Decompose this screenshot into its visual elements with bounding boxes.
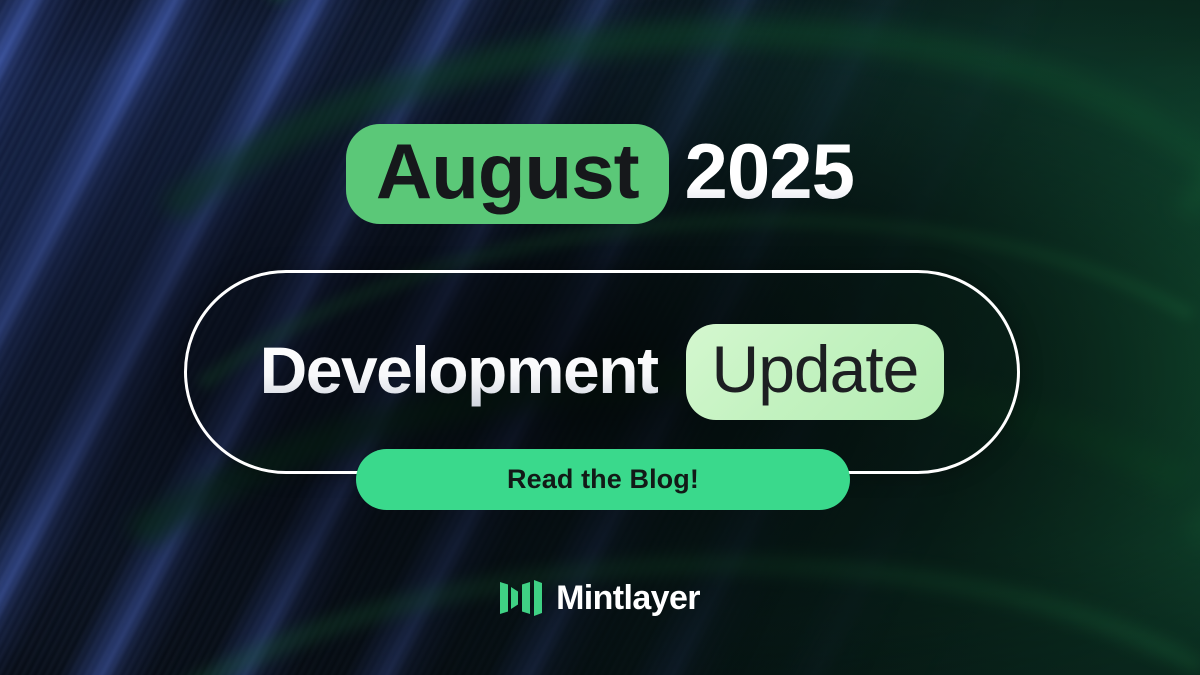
title-primary-word: Development [260, 337, 658, 407]
month-pill: August [346, 124, 669, 224]
year-label: 2025 [685, 132, 855, 216]
title-highlight-pill: Update [686, 324, 945, 420]
promo-banner: August 2025 Development Update Read the … [0, 0, 1200, 675]
brand-name: Mintlayer [556, 581, 700, 615]
brand-lockup: Mintlayer [0, 580, 1200, 616]
banner-content: August 2025 Development Update Read the … [0, 0, 1200, 675]
read-the-blog-button[interactable]: Read the Blog! [356, 449, 850, 510]
mintlayer-m-mark-icon [500, 580, 542, 616]
title-capsule: Development Update [184, 270, 1020, 474]
headline-row: August 2025 [0, 124, 1200, 224]
